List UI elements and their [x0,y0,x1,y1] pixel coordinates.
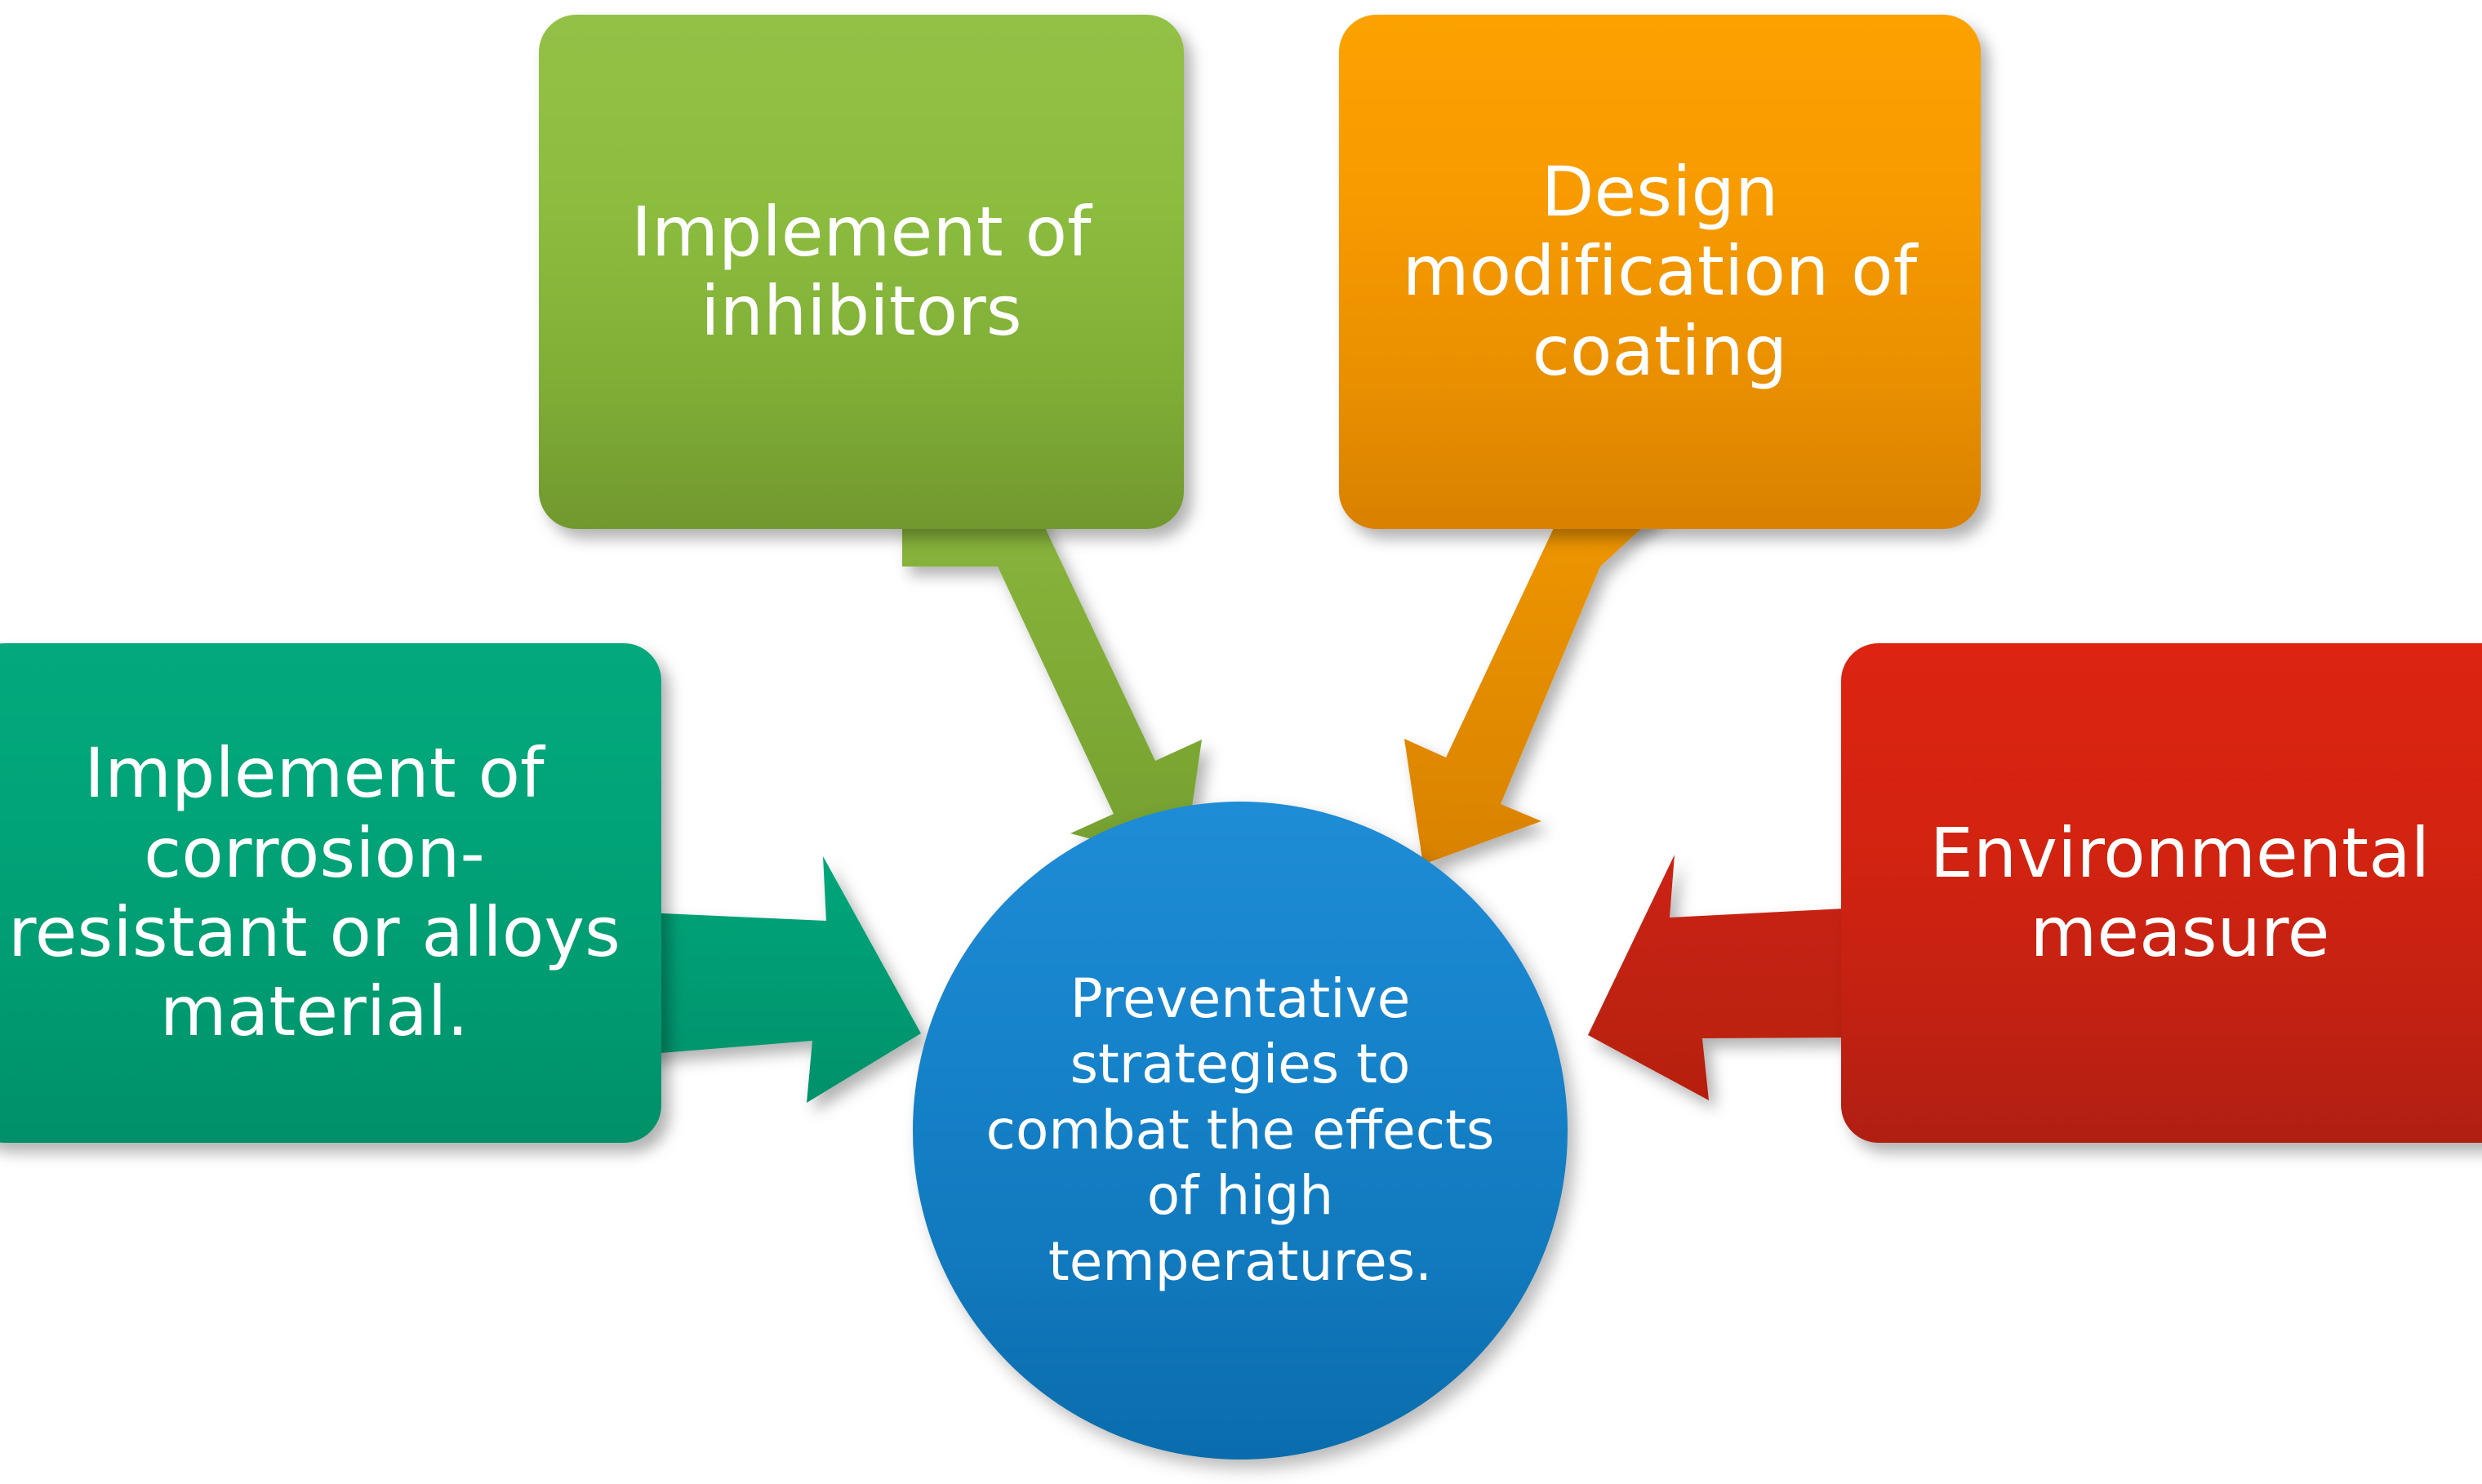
center-circle-node[interactable]: Preventative strategies to combat the ef… [913,802,1568,1460]
arrow-coating-to-center [1404,490,1684,864]
node-label-environment: Environmental measure [1841,814,2482,973]
node-label-alloys: Implement of corrosion-resistant or allo… [0,734,661,1052]
node-box-inhibitors[interactable]: Implement of inhibitors [539,15,1184,529]
arrow-environment-to-center [1588,855,1854,1100]
center-circle-label: Preventative strategies to combat the ef… [913,966,1568,1295]
node-label-inhibitors: Implement of inhibitors [539,193,1184,352]
arrow-inhibitors-to-center [902,490,1202,864]
node-box-alloys[interactable]: Implement of corrosion-resistant or allo… [0,643,661,1143]
node-box-coating[interactable]: Design modification of coating [1339,15,1981,529]
node-label-coating: Design modification of coating [1339,153,1981,391]
diagram-canvas: Implement of inhibitors Design modificat… [0,0,2482,1484]
arrow-alloys-to-center [630,856,921,1103]
node-box-environment[interactable]: Environmental measure [1841,643,2482,1143]
